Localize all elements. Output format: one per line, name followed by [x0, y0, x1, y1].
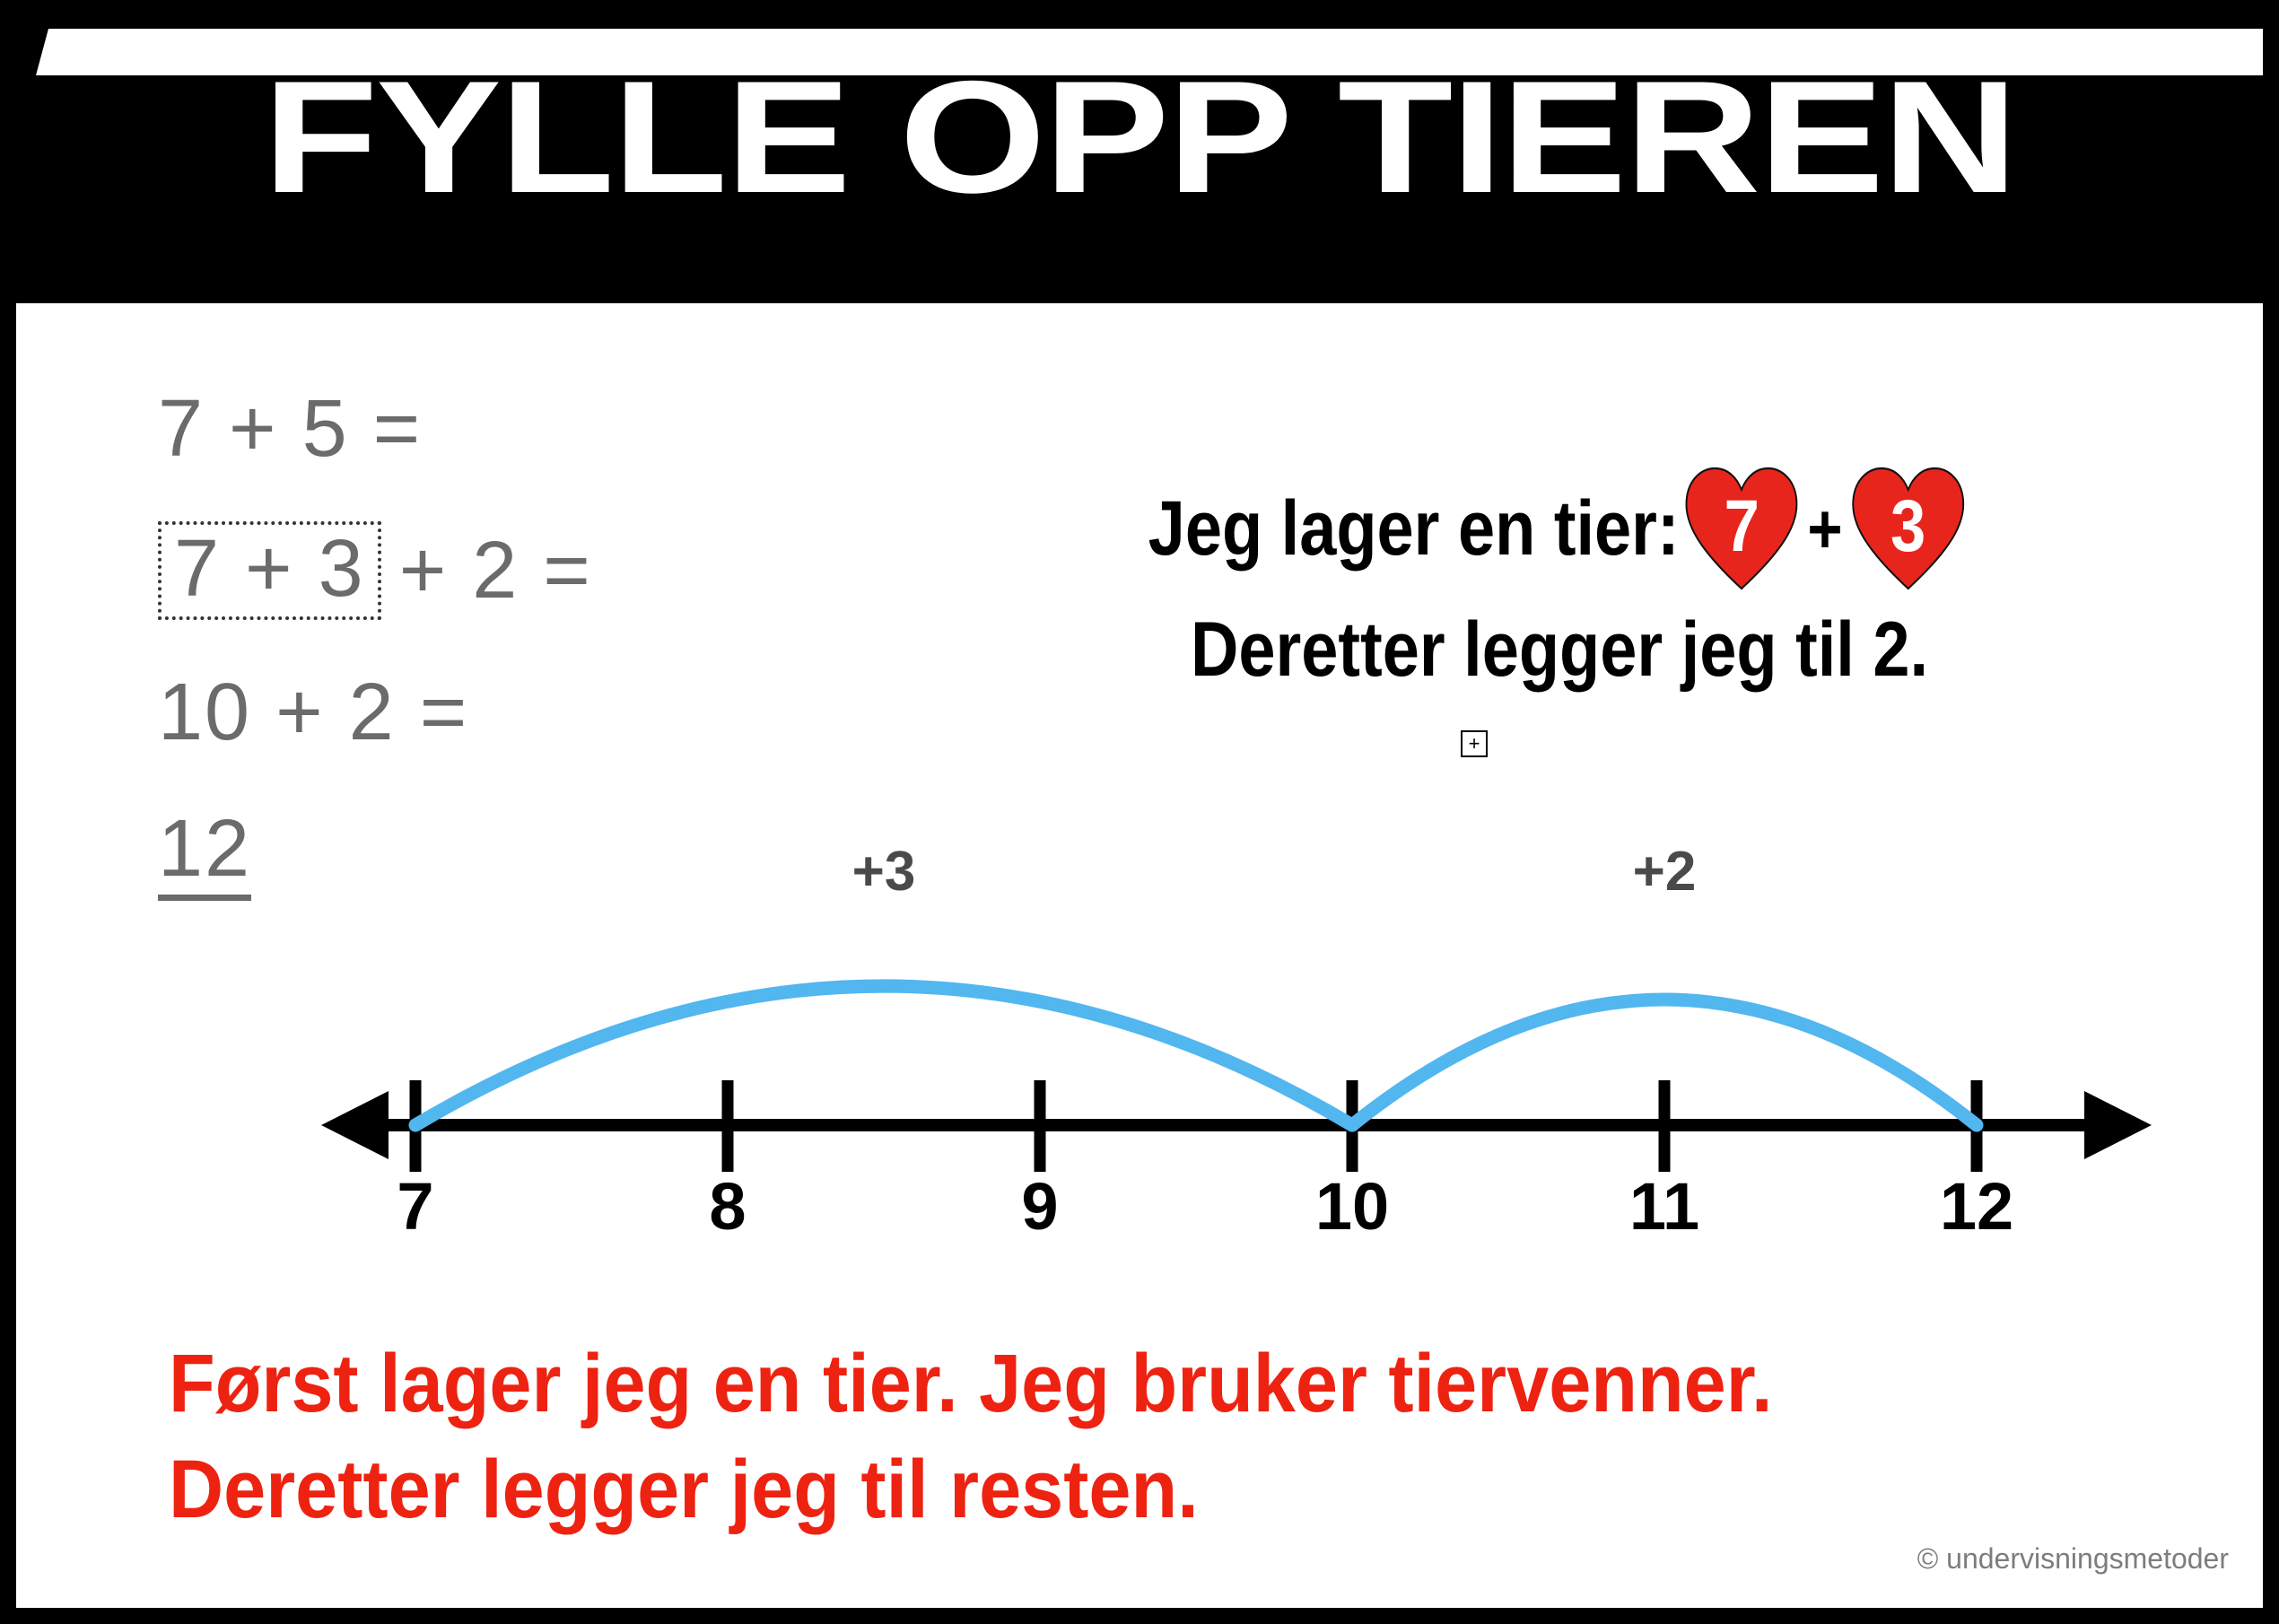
- plus-icon: +: [1807, 488, 1842, 570]
- tick-label-11: 11: [1629, 1168, 1699, 1244]
- tick-label-10: 10: [1315, 1168, 1389, 1244]
- number-line: 7 8 9 10 11 12 +3 +2: [312, 856, 2161, 1278]
- heart-right-value: 3: [1890, 490, 1925, 563]
- heart-icon-left: 7: [1684, 466, 1800, 591]
- page-title: FYLLE OPP TIEREN: [16, 57, 2263, 217]
- explanation-line-2: Deretter legger jeg til 2.: [1019, 606, 2100, 694]
- tick-label-7: 7: [397, 1168, 433, 1244]
- tick-label-8: 8: [709, 1168, 746, 1244]
- copyright-credit: © undervisningsmetoder: [1917, 1542, 2229, 1576]
- tick-label-12: 12: [1940, 1168, 2013, 1244]
- equation-line-1: 7 + 5 =: [158, 383, 422, 476]
- heart-icon-right: 3: [1850, 466, 1966, 591]
- equation-boxed-pair: 7 + 3: [158, 521, 381, 620]
- heart-left-value: 7: [1725, 490, 1759, 563]
- equation-row-2: 7 + 3 + 2 =: [158, 500, 840, 642]
- explanation-block: Jeg lager en tier: 7 + 3 Deretter legger…: [931, 466, 2187, 694]
- boxed-plus-icon: +: [1461, 730, 1488, 757]
- header-banner: FYLLE OPP TIEREN: [16, 13, 2263, 303]
- poster: FYLLE OPP TIEREN 7 + 5 = 7 + 3 + 2 = 10 …: [16, 13, 2263, 1608]
- equation-line-3: 10 + 2 =: [158, 667, 468, 759]
- bottom-instruction-line-2: Deretter legger jeg til resten.: [169, 1437, 1985, 1543]
- equation-answer: 12: [158, 808, 251, 901]
- equation-row-3: 10 + 2 =: [158, 642, 840, 783]
- explanation-line-1: Jeg lager en tier: 7 + 3: [1019, 466, 2100, 591]
- explanation-prefix: Jeg lager en tier:: [1148, 485, 1680, 573]
- jump-label-plus3: +3: [852, 840, 916, 904]
- tick-label-9: 9: [1021, 1168, 1058, 1244]
- equation-row-1: 7 + 5 =: [158, 358, 840, 500]
- bottom-instruction-line-1: Først lager jeg en tier. Jeg bruker tier…: [169, 1332, 1985, 1437]
- jump-label-plus2: +2: [1633, 840, 1697, 904]
- bottom-instruction-text: Først lager jeg en tier. Jeg bruker tier…: [169, 1332, 1985, 1543]
- equation-column: 7 + 5 = 7 + 3 + 2 = 10 + 2 = 12: [158, 358, 840, 925]
- equation-line-2-tail: + 2 =: [396, 525, 592, 617]
